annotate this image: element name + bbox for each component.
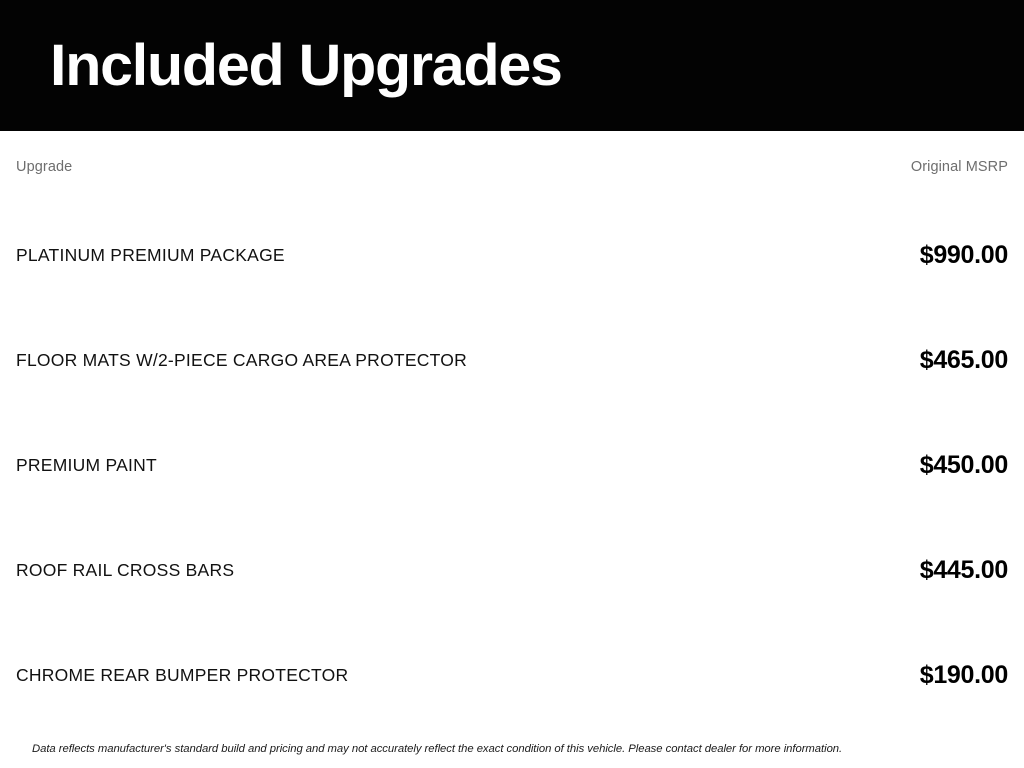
upgrade-name: PLATINUM PREMIUM PACKAGE xyxy=(16,203,716,308)
table-header-row: Upgrade Original MSRP xyxy=(16,131,1008,203)
upgrades-table-container: Upgrade Original MSRP PLATINUM PREMIUM P… xyxy=(0,131,1024,768)
table-row: CHROME REAR BUMPER PROTECTOR $190.00 xyxy=(16,623,1008,728)
upgrade-price: $450.00 xyxy=(716,413,1008,518)
table-row: FLOOR MATS W/2-PIECE CARGO AREA PROTECTO… xyxy=(16,308,1008,413)
upgrade-name: PREMIUM PAINT xyxy=(16,413,716,518)
upgrade-price: $465.00 xyxy=(716,308,1008,413)
table-row: ROOF RAIL CROSS BARS $445.00 xyxy=(16,518,1008,623)
upgrade-name: CHROME REAR BUMPER PROTECTOR xyxy=(16,623,716,728)
table-header: Upgrade Original MSRP xyxy=(16,131,1008,203)
table-row: PREMIUM PAINT $450.00 xyxy=(16,413,1008,518)
upgrade-price: $990.00 xyxy=(716,203,1008,308)
column-header-upgrade: Upgrade xyxy=(16,131,716,203)
column-header-original-msrp: Original MSRP xyxy=(716,131,1008,203)
upgrade-price: $190.00 xyxy=(716,623,1008,728)
table-body: PLATINUM PREMIUM PACKAGE $990.00 FLOOR M… xyxy=(16,203,1008,728)
upgrade-price: $445.00 xyxy=(716,518,1008,623)
disclaimer-text: Data reflects manufacturer's standard bu… xyxy=(16,742,1024,757)
page-header-band: Included Upgrades xyxy=(0,0,1024,131)
table-row: PLATINUM PREMIUM PACKAGE $990.00 xyxy=(16,203,1008,308)
included-upgrades-page: Included Upgrades Upgrade Original MSRP … xyxy=(0,0,1024,768)
upgrade-name: FLOOR MATS W/2-PIECE CARGO AREA PROTECTO… xyxy=(16,308,716,413)
upgrade-name: ROOF RAIL CROSS BARS xyxy=(16,518,716,623)
page-title: Included Upgrades xyxy=(50,37,562,95)
upgrades-table: Upgrade Original MSRP PLATINUM PREMIUM P… xyxy=(16,131,1008,728)
